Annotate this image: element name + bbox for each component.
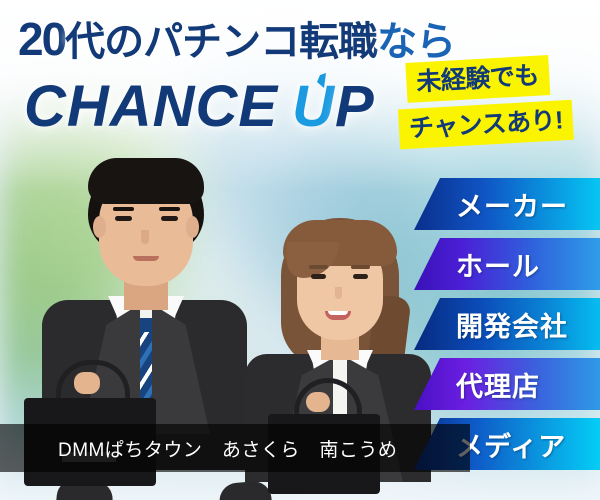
man-eyebrow-right — [159, 207, 180, 211]
category-label-agency: 代理店 — [456, 365, 540, 404]
woman-teeth — [328, 311, 348, 315]
logo-chance-text: CHANCE — [24, 74, 278, 139]
woman-eyebrow-left — [309, 265, 328, 269]
man-hand — [74, 372, 100, 394]
logo-u-letter: U — [292, 74, 335, 139]
woman-eye-right — [353, 274, 368, 279]
promo-badge-line-1: 未経験でも — [405, 55, 550, 103]
headline-number: 20 — [18, 13, 65, 65]
man-eye-left — [115, 216, 132, 221]
woman-eyebrow-right — [351, 265, 370, 269]
category-button-maker[interactable]: メーカー — [414, 178, 600, 230]
headline-tail: なら — [377, 20, 455, 64]
promo-badge-line-2: チャンスあり! — [398, 100, 574, 150]
caption-text: DMMぱちタウン あさくら 南こうめ — [58, 435, 397, 462]
man-eyebrow-left — [113, 207, 134, 211]
man-eye-right — [161, 216, 178, 221]
category-button-hall[interactable]: ホール — [414, 238, 600, 290]
caption-bar: DMMぱちタウン あさくら 南こうめ — [0, 424, 470, 472]
brand-logo: CHANCEUP — [24, 78, 375, 136]
category-label-media: メディア — [456, 425, 566, 464]
category-label-hall: ホール — [456, 245, 540, 284]
man-ear-right — [186, 216, 199, 238]
man-mouth — [133, 256, 159, 261]
man-ear-left — [93, 216, 106, 238]
logo-up-group: UP — [292, 78, 375, 136]
man-hair-front — [88, 158, 204, 204]
headline-middle: 代のパチンコ転職 — [65, 20, 377, 64]
headline-text: 20代のパチンコ転職なら — [18, 16, 455, 62]
woman-hand — [306, 392, 330, 412]
category-button-agency[interactable]: 代理店 — [414, 358, 600, 410]
man-nose — [141, 230, 149, 244]
promo-badge: 未経験でも チャンスあり! — [395, 53, 596, 164]
advertisement-banner[interactable]: 20代のパチンコ転職なら CHANCEUP 未経験でも チャンスあり! メーカー… — [0, 0, 600, 500]
category-button-developer[interactable]: 開発会社 — [414, 298, 600, 350]
logo-p-letter: P — [335, 74, 375, 139]
woman-eye-left — [311, 274, 326, 279]
category-label-maker: メーカー — [456, 185, 568, 224]
woman-nose — [335, 287, 342, 299]
category-label-developer: 開発会社 — [456, 305, 568, 344]
